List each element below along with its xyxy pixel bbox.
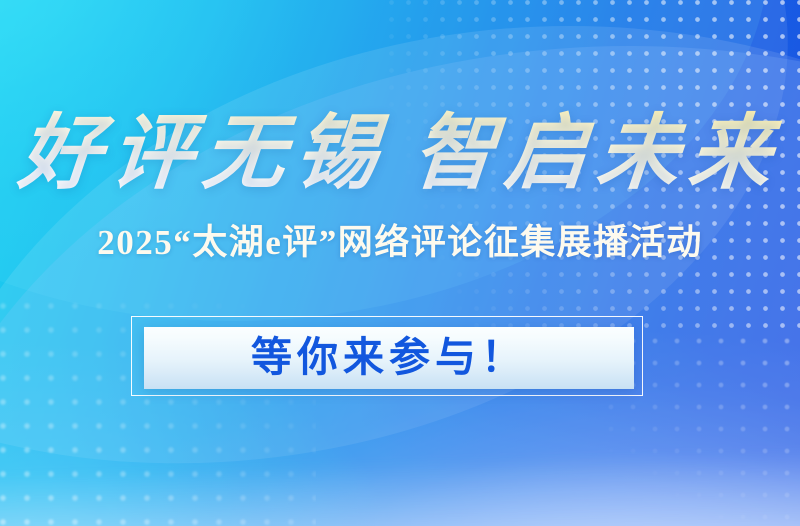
headline-part-two: 智启未来 <box>409 113 784 195</box>
cta-label: 等你来参与！ <box>251 337 527 378</box>
promo-banner: 好评无锡 智启未来 2025“太湖e评”网络评论征集展播活动 等你来参与！ <box>0 0 800 526</box>
banner-content: 好评无锡 智启未来 2025“太湖e评”网络评论征集展播活动 等你来参与！ <box>0 0 800 526</box>
banner-subtitle: 2025“太湖e评”网络评论征集展播活动 <box>97 214 703 265</box>
cta-plate[interactable]: 等你来参与！ <box>144 327 634 389</box>
call-to-action-button[interactable]: 等你来参与！ <box>131 316 643 396</box>
headline-part-one: 好评无锡 <box>15 113 390 195</box>
banner-headline: 好评无锡 智启未来 <box>15 106 785 202</box>
